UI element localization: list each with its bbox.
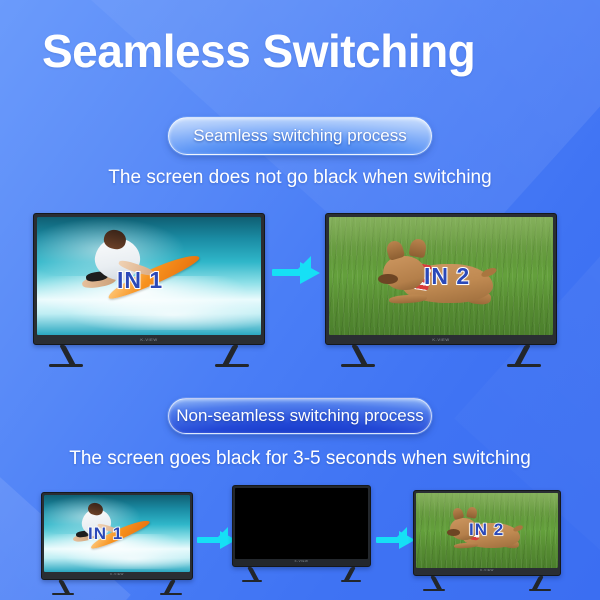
caption-non-seamless: The screen goes black for 3-5 seconds wh…: [0, 448, 600, 470]
tv-seamless-1: K-VIEW IN 1: [33, 213, 265, 345]
tv-brand-logo: K-VIEW: [432, 337, 449, 342]
tv-chin: K-VIEW: [326, 335, 556, 343]
dog-scene-icon: [416, 493, 558, 568]
page-title: Seamless Switching: [42, 26, 475, 77]
tv-stand: [41, 580, 193, 595]
surfer-scene-icon: [37, 217, 261, 335]
pill-non-seamless-switching-process[interactable]: Non-seamless switching process: [168, 398, 432, 434]
tv-nonseamless-3: K-VIEW IN 2: [413, 490, 561, 576]
tv-stand: [325, 345, 557, 367]
tv-nonseamless-1: K-VIEW IN 1: [41, 492, 193, 580]
tv-brand-logo: K-VIEW: [480, 568, 494, 572]
tv-stand: [413, 576, 561, 591]
tv-bezel: K-VIEW: [325, 213, 557, 345]
tv-bezel: K-VIEW: [41, 492, 193, 580]
arrow-right-icon-bottom-2: [376, 528, 416, 546]
pill-seamless-label: Seamless switching process: [193, 126, 407, 146]
tv-brand-logo: K-VIEW: [110, 572, 124, 576]
tv-bezel: K-VIEW: [33, 213, 265, 345]
tv-brand-logo: K-VIEW: [295, 559, 309, 563]
tv-stand: [33, 345, 265, 367]
tv-screen-black: [235, 488, 368, 559]
arrow-right-icon-top: [272, 258, 320, 280]
tv-screen-surfer: [44, 495, 190, 572]
dog-scene-icon: [329, 217, 553, 335]
pill-seamless-switching-process[interactable]: Seamless switching process: [168, 117, 432, 155]
slide-canvas: Seamless Switching Seamless switching pr…: [0, 0, 600, 600]
tv-chin: K-VIEW: [42, 570, 192, 578]
surfer-scene-icon: [44, 495, 190, 572]
tv-screen-dog: [416, 493, 558, 568]
pill-non-seamless-label: Non-seamless switching process: [176, 406, 424, 426]
tv-brand-logo: K-VIEW: [140, 337, 157, 342]
tv-chin: K-VIEW: [34, 335, 264, 343]
caption-seamless: The screen does not go black when switch…: [0, 167, 600, 189]
tv-seamless-2: K-VIEW IN 2: [325, 213, 557, 345]
tv-bezel: K-VIEW: [413, 490, 561, 576]
tv-bezel: K-VIEW: [232, 485, 371, 567]
tv-screen-surfer: [37, 217, 261, 335]
tv-stand: [232, 567, 371, 582]
tv-chin: K-VIEW: [414, 566, 560, 574]
tv-chin: K-VIEW: [233, 557, 370, 565]
tv-nonseamless-2: K-VIEW: [232, 485, 371, 567]
tv-screen-dog: [329, 217, 553, 335]
arrow-right-icon-bottom-1: [197, 528, 237, 546]
